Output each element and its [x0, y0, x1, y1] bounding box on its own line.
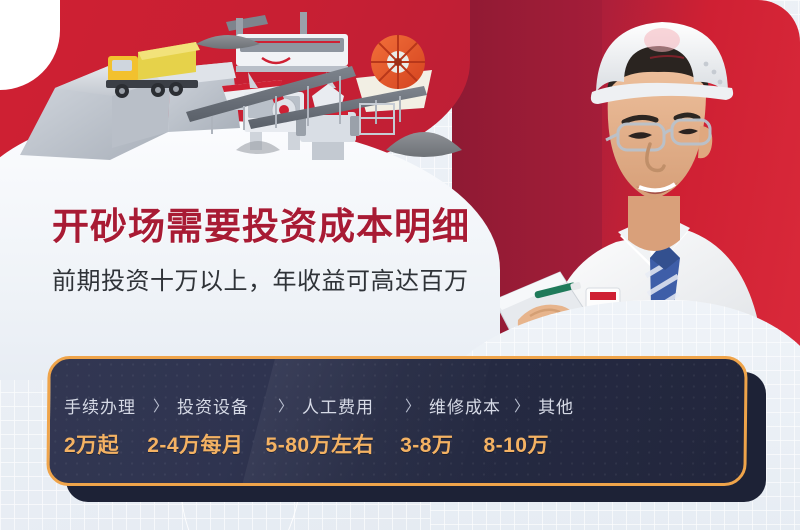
- cost-step-label: 其他: [538, 393, 574, 418]
- cost-step-label: 手续办理: [64, 393, 136, 418]
- cost-breakdown-card: 手续办理〉投资设备〉人工费用〉维修成本〉其他 2万起2-4万每月5-80万左右3…: [46, 356, 747, 486]
- cost-step-label: 投资设备: [177, 393, 249, 418]
- page-title: 开砂场需要投资成本明细: [52, 196, 470, 250]
- page-subtitle: 前期投资十万以上，年收益可高达百万: [52, 261, 469, 296]
- cost-step-label: 维修成本: [429, 393, 501, 418]
- cost-step-value: 5-80万左右: [266, 429, 375, 459]
- cost-step-value: 2-4万每月: [147, 429, 243, 459]
- cost-steps-row: 手续办理〉投资设备〉人工费用〉维修成本〉其他: [64, 393, 724, 418]
- cost-step-value: 2万起: [64, 429, 119, 459]
- sand-quarry-plant-illustration: [0, 0, 470, 185]
- promo-banner: 开砂场需要投资成本明细 前期投资十万以上，年收益可高达百万 手续办理〉投资设备〉…: [0, 0, 800, 530]
- step-chevron-icon: 〉: [514, 395, 529, 416]
- cone-crusher: [296, 84, 360, 160]
- cost-step-label: 人工费用: [302, 393, 374, 418]
- step-chevron-icon: 〉: [278, 395, 293, 416]
- cost-values-row: 2万起2-4万每月5-80万左右3-8万8-10万: [64, 429, 744, 459]
- step-chevron-icon: 〉: [153, 395, 168, 416]
- neck: [628, 196, 680, 251]
- cost-step-value: 8-10万: [483, 429, 549, 459]
- step-chevron-icon: 〉: [405, 395, 420, 416]
- cost-step-value: 3-8万: [400, 429, 453, 459]
